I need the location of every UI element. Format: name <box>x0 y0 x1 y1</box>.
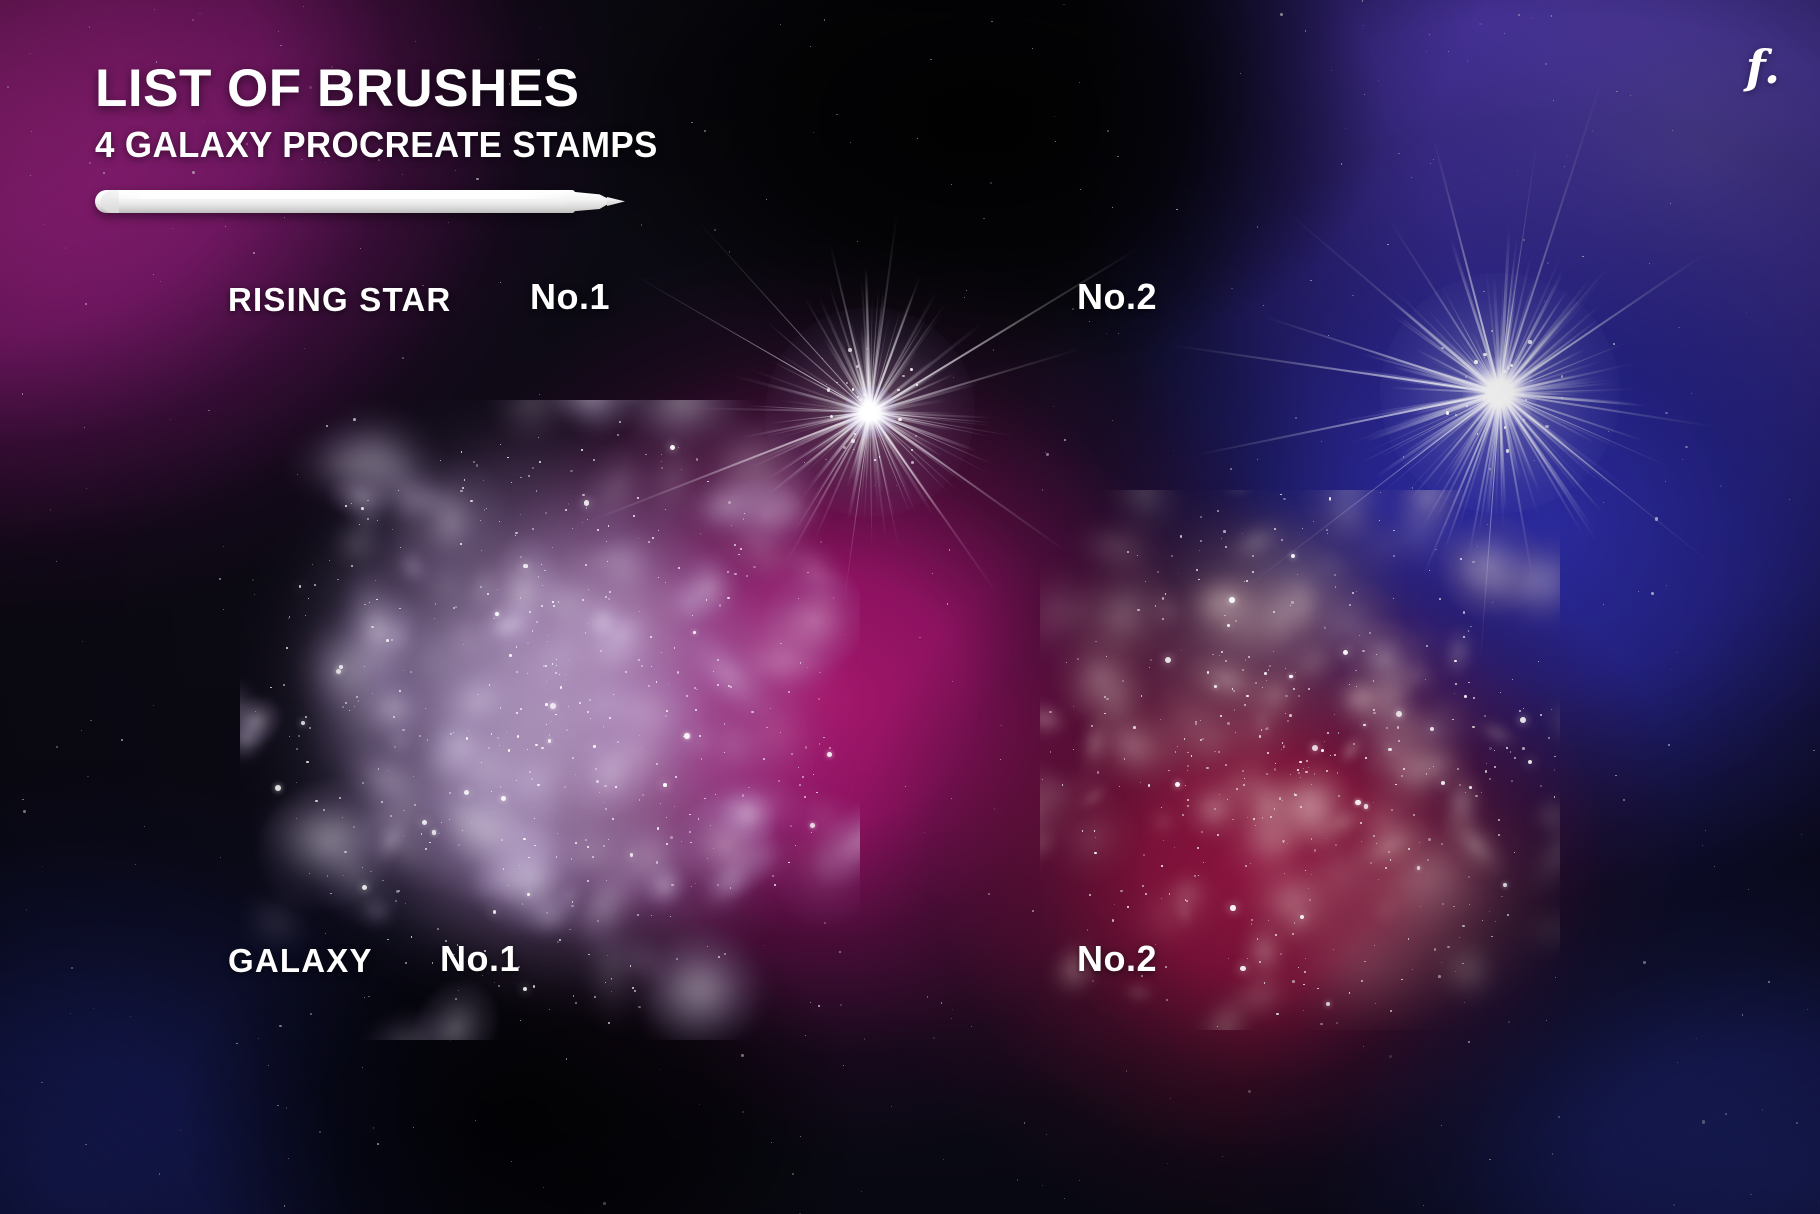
label-rising-star-no2: No.2 <box>1077 276 1157 318</box>
pencil-tip <box>607 197 625 206</box>
label-rising-star-no1: No.1 <box>530 276 610 318</box>
brand-logo-icon[interactable]: f. <box>1746 44 1780 90</box>
pencil-taper <box>565 191 613 212</box>
label-galaxy-group: GALAXY <box>228 942 373 980</box>
label-galaxy-no1: No.1 <box>440 938 520 980</box>
background-vignette <box>0 0 1820 1214</box>
poster-canvas: LIST OF BRUSHES 4 GALAXY PROCREATE STAMP… <box>0 0 1820 1214</box>
apple-pencil-icon <box>95 184 625 218</box>
page-title: LIST OF BRUSHES <box>95 62 675 115</box>
label-galaxy-no2: No.2 <box>1077 938 1157 980</box>
pencil-highlight <box>111 193 561 199</box>
page-subtitle: 4 GALAXY PROCREATE STAMPS <box>95 127 658 163</box>
label-rising-star-group: RISING STAR <box>228 281 451 319</box>
header-block: LIST OF BRUSHES 4 GALAXY PROCREATE STAMP… <box>95 62 675 163</box>
